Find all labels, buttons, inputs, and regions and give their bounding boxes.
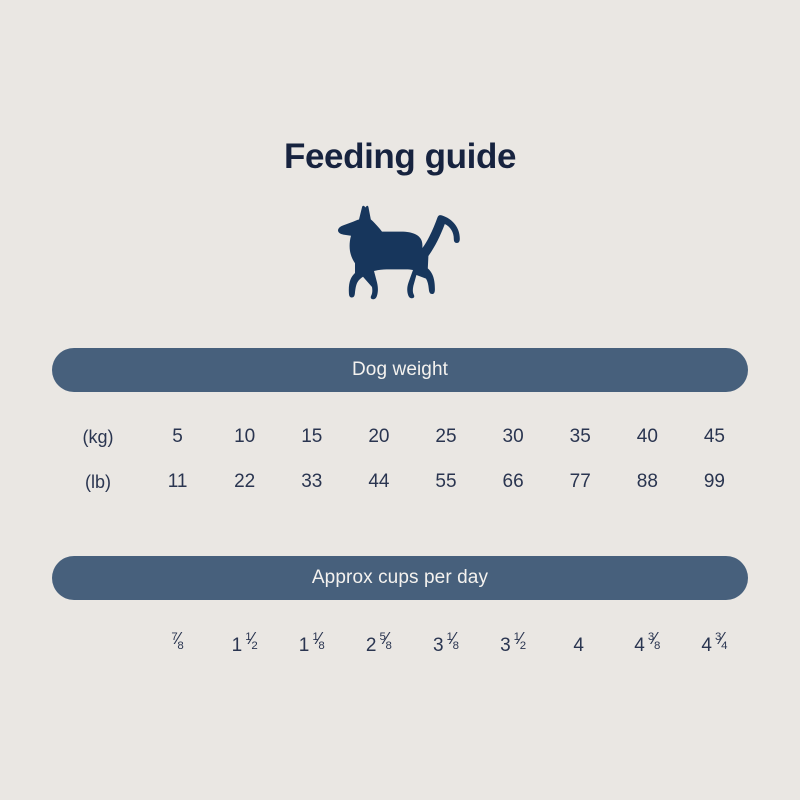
- section-header-dog-weight: Dog weight: [52, 348, 748, 392]
- table-cell-cups-6: 31⁄2: [480, 635, 547, 657]
- fraction-part: 1⁄8: [447, 638, 459, 651]
- section-header-dog-weight-label: Dog weight: [352, 359, 448, 381]
- fraction-whole: 2: [366, 635, 377, 656]
- table-cell-cups-3: 11⁄8: [278, 635, 345, 657]
- fraction-whole: 4: [634, 635, 645, 656]
- fraction-whole: 3: [500, 635, 511, 656]
- table-cell-lb-5: 55: [412, 471, 479, 493]
- table-cell-kg-3: 15: [278, 426, 345, 448]
- table-cell-lb-1: 11: [144, 471, 211, 493]
- dog-silhouette-icon: [334, 199, 466, 305]
- table-cell-cups-9: 43⁄4: [681, 635, 748, 657]
- table-cell-kg-1: 5: [144, 426, 211, 448]
- table-cell-kg-8: 40: [614, 426, 681, 448]
- table-row-cups: 7⁄811⁄211⁄825⁄831⁄831⁄2443⁄843⁄4: [52, 629, 748, 663]
- fraction-part: 1⁄2: [514, 638, 526, 651]
- table-cell-kg-4: 20: [345, 426, 412, 448]
- page-title: Feeding guide: [0, 135, 800, 179]
- table-cell-kg-6: 30: [480, 426, 547, 448]
- feeding-guide-page: Feeding guide Dog weight (kg) 5 10 15 20…: [0, 0, 800, 800]
- table-cell-kg-9: 45: [681, 426, 748, 448]
- unit-label-kg: (kg): [52, 427, 144, 448]
- unit-label-lb: (lb): [52, 472, 144, 493]
- section-header-cups-per-day: Approx cups per day: [52, 556, 748, 600]
- fraction-whole: 4: [573, 635, 584, 656]
- section-header-cups-per-day-label: Approx cups per day: [312, 567, 488, 589]
- table-cell-lb-9: 99: [681, 471, 748, 493]
- table-cell-lb-4: 44: [345, 471, 412, 493]
- table-cell-kg-7: 35: [547, 426, 614, 448]
- table-cell-lb-6: 66: [480, 471, 547, 493]
- table-cell-cups-4: 25⁄8: [345, 635, 412, 657]
- kg-values: 5 10 15 20 25 30 35 40 45: [144, 426, 748, 448]
- table-cell-kg-2: 10: [211, 426, 278, 448]
- table-cell-lb-2: 22: [211, 471, 278, 493]
- fraction-part: 7⁄8: [171, 638, 183, 651]
- fraction-whole: 1: [299, 635, 310, 656]
- fraction-whole: 1: [232, 635, 243, 656]
- table-cell-cups-7: 4: [547, 635, 614, 657]
- fraction-whole: 4: [701, 635, 712, 656]
- table-cell-cups-5: 31⁄8: [412, 635, 479, 657]
- table-row-kg: (kg) 5 10 15 20 25 30 35 40 45: [52, 420, 748, 454]
- fraction-part: 3⁄8: [648, 638, 660, 651]
- table-cell-kg-5: 25: [412, 426, 479, 448]
- table-cell-cups-2: 11⁄2: [211, 635, 278, 657]
- table-cell-cups-8: 43⁄8: [614, 635, 681, 657]
- table-cell-lb-8: 88: [614, 471, 681, 493]
- table-row-lb: (lb) 11 22 33 44 55 66 77 88 99: [52, 465, 748, 499]
- cups-values: 7⁄811⁄211⁄825⁄831⁄831⁄2443⁄843⁄4: [144, 635, 748, 657]
- fraction-part: 1⁄2: [245, 638, 257, 651]
- fraction-part: 3⁄4: [715, 638, 727, 651]
- dog-illustration: [0, 196, 800, 308]
- table-cell-lb-7: 77: [547, 471, 614, 493]
- fraction-part: 1⁄8: [312, 638, 324, 651]
- fraction-part: 5⁄8: [379, 638, 391, 651]
- table-cell-lb-3: 33: [278, 471, 345, 493]
- fraction-whole: 3: [433, 635, 444, 656]
- table-cell-cups-1: 7⁄8: [144, 635, 211, 657]
- lb-values: 11 22 33 44 55 66 77 88 99: [144, 471, 748, 493]
